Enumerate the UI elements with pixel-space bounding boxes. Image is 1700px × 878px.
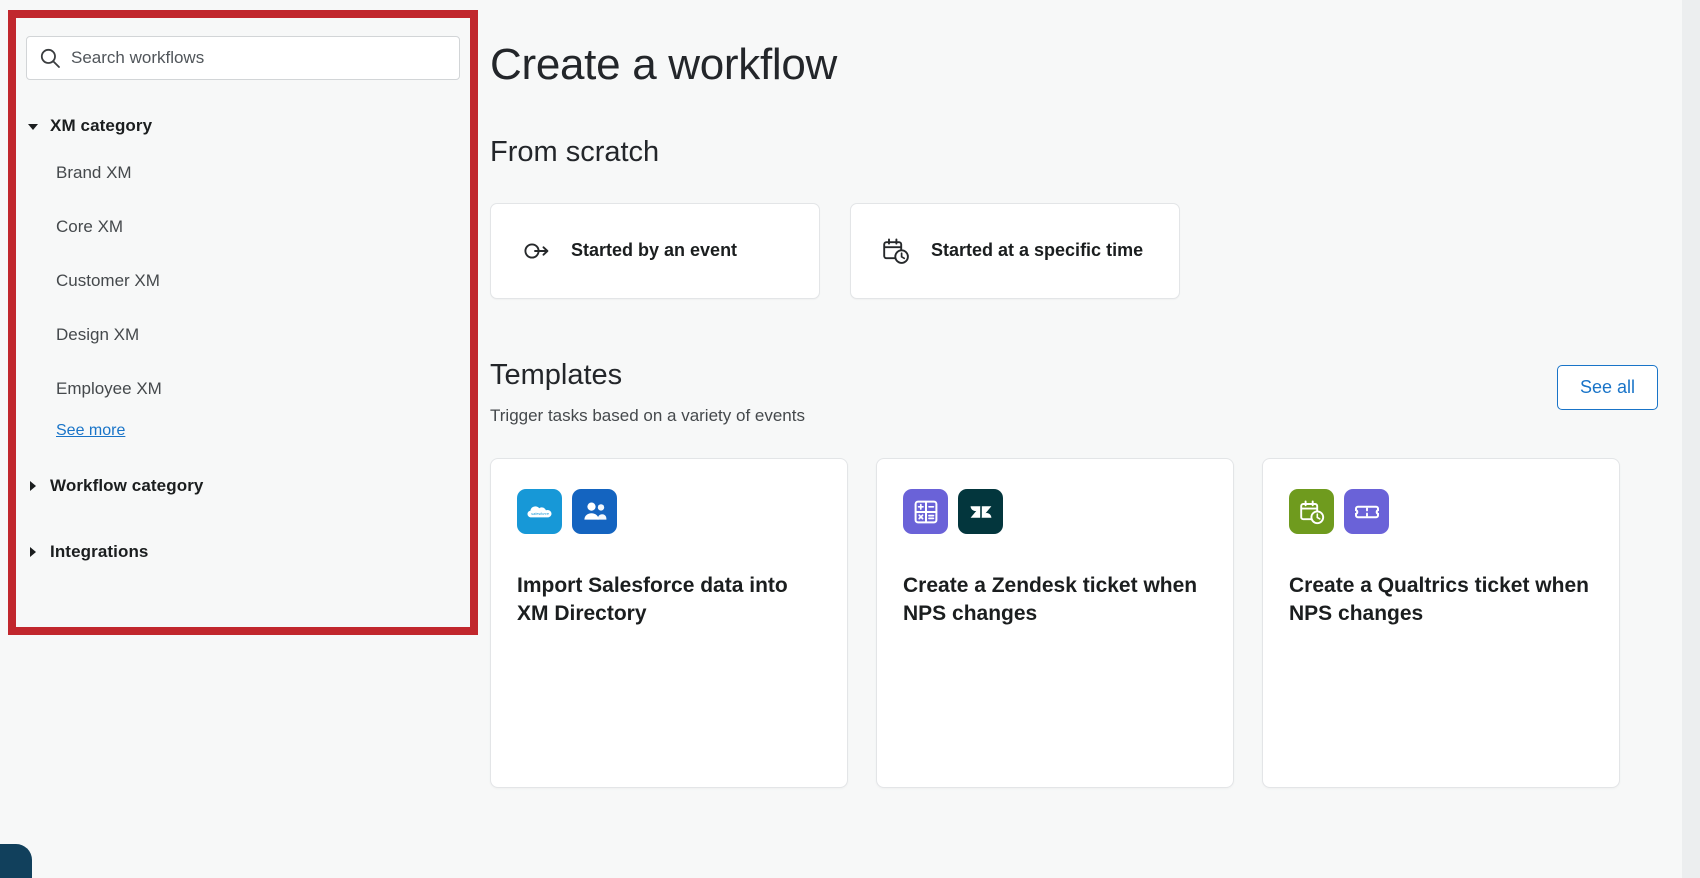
started-at-a-specific-time-card[interactable]: Started at a specific time <box>850 203 1180 299</box>
facet-group-integrations[interactable]: Integrations <box>26 532 460 572</box>
facet-group-label: Integrations <box>50 542 149 562</box>
template-card-import-salesforce[interactable]: salesforce Import Salesforce data into X… <box>490 458 848 788</box>
qualtrics-ticket-icon <box>1344 489 1389 534</box>
caret-right-icon <box>26 545 40 559</box>
facet-list: XM category Brand XM Core XM Customer XM… <box>26 106 460 572</box>
search-input[interactable] <box>71 48 447 68</box>
template-card-title: Create a Zendesk ticket when NPS changes <box>903 572 1207 628</box>
template-icon-group <box>1289 489 1593 534</box>
facet-option-brand-xm[interactable]: Brand XM <box>56 146 460 200</box>
zendesk-icon <box>958 489 1003 534</box>
facet-option-employee-xm[interactable]: Employee XM <box>56 362 460 416</box>
calendar-clock-icon <box>881 236 911 266</box>
facet-group-xm-category[interactable]: XM category <box>26 106 460 146</box>
see-all-button[interactable]: See all <box>1557 365 1658 410</box>
started-by-an-event-card[interactable]: Started by an event <box>490 203 820 299</box>
facet-group-label: Workflow category <box>50 476 203 496</box>
workflow-filter-panel: XM category Brand XM Core XM Customer XM… <box>0 0 486 644</box>
page-right-gutter <box>1682 0 1700 878</box>
templates-heading-block: Templates Trigger tasks based on a varie… <box>490 359 805 426</box>
facet-group-label: XM category <box>50 116 152 136</box>
facet-option-core-xm[interactable]: Core XM <box>56 200 460 254</box>
templates-heading: Templates <box>490 359 805 392</box>
facet-option-customer-xm[interactable]: Customer XM <box>56 254 460 308</box>
main-content: Create a workflow From scratch Started b… <box>490 0 1680 878</box>
facet-option-design-xm[interactable]: Design XM <box>56 308 460 362</box>
templates-card-row: salesforce Import Salesforce data into X… <box>490 458 1658 788</box>
templates-header: Templates Trigger tasks based on a varie… <box>490 359 1658 426</box>
scratch-card-label: Started by an event <box>571 239 737 262</box>
template-icon-group <box>903 489 1207 534</box>
event-trigger-icon <box>521 236 551 266</box>
template-card-title: Import Salesforce data into XM Directory <box>517 572 821 628</box>
template-card-zendesk-nps[interactable]: Create a Zendesk ticket when NPS changes <box>876 458 1234 788</box>
search-icon <box>39 47 61 69</box>
see-more-link[interactable]: See more <box>56 422 125 440</box>
app-nav-corner <box>0 844 32 878</box>
svg-text:salesforce: salesforce <box>531 511 550 516</box>
template-card-qualtrics-nps[interactable]: Create a Qualtrics ticket when NPS chang… <box>1262 458 1620 788</box>
from-scratch-card-row: Started by an event Started at a specifi… <box>490 203 1658 299</box>
search-workflows-box[interactable] <box>26 36 460 80</box>
facet-group-workflow-category[interactable]: Workflow category <box>26 466 460 506</box>
page-title: Create a workflow <box>490 40 1658 90</box>
nps-calculator-icon <box>903 489 948 534</box>
scratch-card-label: Started at a specific time <box>931 239 1143 262</box>
xm-directory-people-icon <box>572 489 617 534</box>
salesforce-icon: salesforce <box>517 489 562 534</box>
template-card-title: Create a Qualtrics ticket when NPS chang… <box>1289 572 1593 628</box>
templates-subtitle: Trigger tasks based on a variety of even… <box>490 406 805 426</box>
template-icon-group: salesforce <box>517 489 821 534</box>
caret-down-icon <box>26 119 40 133</box>
caret-right-icon <box>26 479 40 493</box>
facet-options-xm-category: Brand XM Core XM Customer XM Design XM E… <box>26 146 460 416</box>
calendar-clock-icon <box>1289 489 1334 534</box>
from-scratch-heading: From scratch <box>490 136 1658 169</box>
